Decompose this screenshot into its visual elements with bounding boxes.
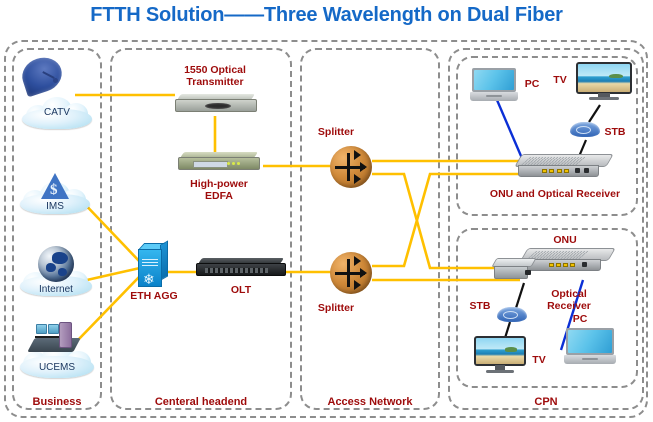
- cpn-bottom-tv-icon: [474, 336, 526, 378]
- edfa-device: [178, 152, 260, 174]
- cpn-top-stb-icon: [570, 122, 600, 137]
- satellite-dish-icon: [22, 58, 66, 98]
- optical-transmitter-device: [175, 94, 257, 116]
- olt-device: [196, 258, 286, 280]
- cpn-top-stb-label: STB: [601, 126, 629, 138]
- page-title: FTTH Solution——Three Wavelength on Dual …: [0, 4, 653, 27]
- splitter-bottom-device: [330, 252, 372, 294]
- optical-transmitter-line1: 1550 Optical: [184, 64, 246, 76]
- zone-access: [300, 48, 440, 410]
- internet-label: Internet: [20, 284, 92, 295]
- cpn-bottom-optical-receiver-device: [494, 258, 534, 282]
- cpn-bottom-optical-receiver-caption: Optical Receiver: [524, 288, 614, 312]
- cpn-bottom-stb-icon: [497, 307, 527, 322]
- cpn-top-onu-label: ONU and Optical Receiver: [470, 188, 640, 200]
- cpn-bottom-stb-label: STB: [466, 300, 494, 312]
- zone-headend-label: Centeral headend: [110, 396, 292, 408]
- ims-label: IMS: [20, 201, 90, 212]
- globe-icon: [38, 246, 74, 282]
- cpn-top-pc-icon: [470, 68, 518, 102]
- optical-receiver-line1: Optical: [551, 288, 587, 300]
- zone-cpn-label: CPN: [448, 396, 644, 408]
- splitter-top-caption: Splitter: [306, 126, 366, 138]
- eth-agg-device: ❄: [138, 243, 168, 285]
- ims-glyph: $: [50, 182, 58, 199]
- cpn-bottom-onu-label: ONU: [545, 234, 585, 246]
- cpn-bottom-onu-device: [524, 248, 612, 276]
- cpn-top-onu-device: [518, 154, 610, 182]
- edfa-caption: High-power EDFA: [159, 178, 279, 202]
- optical-transmitter-line2: Transmitter: [186, 76, 243, 88]
- cpn-bottom-pc-label: PC: [568, 313, 592, 325]
- optical-transmitter-caption: 1550 Optical Transmitter: [155, 64, 275, 88]
- optical-receiver-line2: Receiver: [547, 300, 591, 312]
- diagram-canvas: FTTH Solution——Three Wavelength on Dual …: [0, 0, 653, 422]
- zone-access-label: Access Network: [300, 396, 440, 408]
- edfa-line2: EDFA: [205, 190, 233, 202]
- cpn-top-tv-label: TV: [549, 74, 571, 86]
- cpn-top-pc-label: PC: [520, 78, 544, 90]
- edfa-line1: High-power: [190, 178, 248, 190]
- olt-caption: OLT: [211, 284, 271, 296]
- cpn-top-tv-icon: [576, 62, 632, 106]
- catv-label: CATV: [22, 107, 92, 118]
- cpn-bottom-pc-icon: [564, 328, 616, 366]
- eth-agg-caption: ETH AGG: [118, 290, 190, 302]
- zone-business-label: Business: [12, 396, 102, 408]
- cpn-bottom-tv-label: TV: [528, 354, 550, 366]
- splitter-bottom-caption: Splitter: [306, 302, 366, 314]
- catv-cloud: CATV: [22, 95, 92, 129]
- ucems-label: UCEMS: [20, 362, 94, 373]
- server-rack-icon: [31, 320, 81, 356]
- splitter-top-device: [330, 146, 372, 188]
